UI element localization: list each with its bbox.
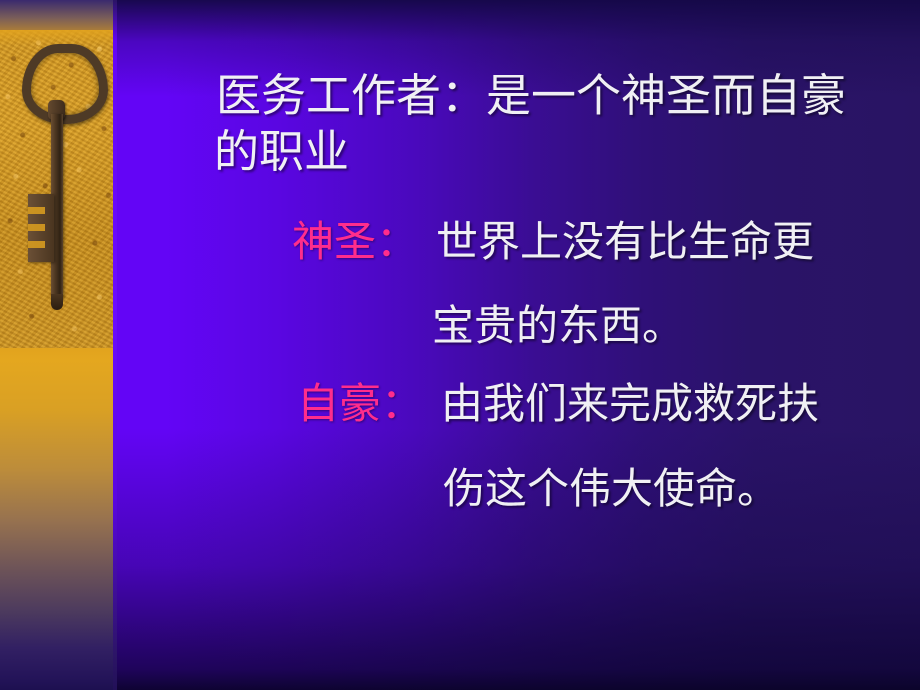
presentation-slide: 医务工作者：是一个神圣而自豪 的职业 神圣：世界上没有比生命更 宝贵的东西。 自… — [0, 0, 920, 690]
slide-text-layer: 医务工作者：是一个神圣而自豪 的职业 神圣：世界上没有比生命更 宝贵的东西。 自… — [0, 0, 920, 690]
bullet-1-label: 神圣： — [292, 220, 418, 266]
bullet-1-text-line-1: 世界上没有比生命更 — [436, 220, 814, 266]
bullet-1-line-1: 神圣：世界上没有比生命更 — [292, 208, 814, 269]
bullet-2-line-1: 自豪：由我们来完成救死扶 — [297, 370, 819, 431]
bullet-2-label: 自豪： — [297, 382, 423, 428]
bullet-1-text-line-2: 宝贵的东西。 — [432, 292, 684, 353]
slide-title-line-1: 医务工作者：是一个神圣而自豪 — [216, 70, 846, 122]
bullet-2-text-line-1: 由我们来完成救死扶 — [441, 382, 819, 428]
slide-title-line-2: 的职业 — [214, 126, 349, 178]
bullet-2-text-line-2: 伤这个伟大使命。 — [443, 455, 779, 516]
